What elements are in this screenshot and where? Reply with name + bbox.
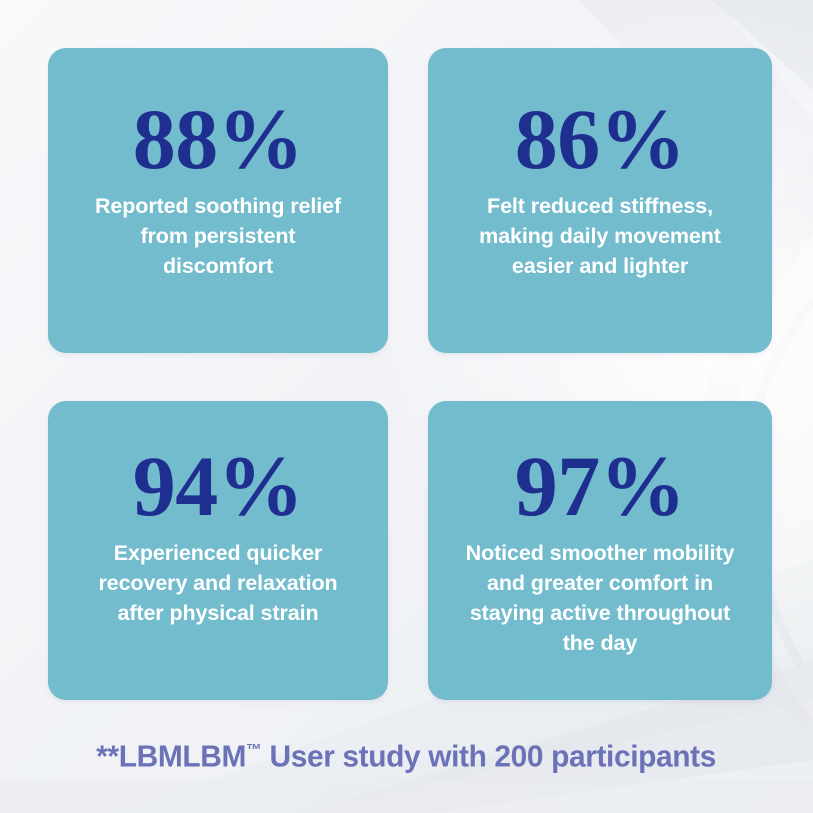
stat-desc-line: Felt reduced stiffness, [487, 194, 713, 218]
footnote: **LBMLBM™ User study with 200 participan… [0, 726, 813, 780]
trademark-icon: ™ [246, 741, 262, 759]
stat-card-97: 97% Noticed smoother mobility and greate… [428, 401, 772, 700]
stat-desc-line: the day [563, 631, 638, 655]
footnote-brand: LBMLBM [119, 738, 246, 773]
stat-desc-line: staying active throughout [470, 601, 730, 625]
stat-value: 88% [133, 100, 304, 179]
infographic-stage: 88% Reported soothing relief from persis… [0, 0, 813, 813]
stat-desc-line: from persistent [140, 224, 295, 248]
footnote-text: **LBMLBM™ User study with 200 participan… [97, 730, 717, 777]
stat-description: Reported soothing relief from persistent… [95, 191, 341, 281]
stat-value: 97% [515, 447, 686, 526]
footnote-asterisks: ** [97, 738, 120, 773]
stat-desc-line: Experienced quicker [114, 541, 322, 565]
stat-desc-line: Noticed smoother mobility [466, 541, 735, 565]
stat-desc-line: and greater comfort in [487, 571, 713, 595]
footnote-rest: User study with 200 participants [262, 738, 716, 773]
stat-description: Felt reduced stiffness, making daily mov… [479, 191, 721, 281]
stat-value: 94% [133, 447, 304, 526]
stat-card-94: 94% Experienced quicker recovery and rel… [48, 401, 388, 700]
stat-desc-line: after physical strain [117, 601, 318, 625]
stat-description: Noticed smoother mobility and greater co… [466, 538, 735, 658]
stat-card-86: 86% Felt reduced stiffness, making daily… [428, 48, 772, 353]
stat-description: Experienced quicker recovery and relaxat… [98, 538, 337, 628]
stat-desc-line: easier and lighter [512, 254, 688, 278]
stat-desc-line: making daily movement [479, 224, 721, 248]
stat-value: 86% [515, 100, 686, 179]
stat-desc-line: discomfort [163, 254, 273, 278]
stat-card-88: 88% Reported soothing relief from persis… [48, 48, 388, 353]
stat-card-grid: 88% Reported soothing relief from persis… [48, 48, 772, 700]
stat-desc-line: Reported soothing relief [95, 194, 341, 218]
stat-desc-line: recovery and relaxation [98, 571, 337, 595]
